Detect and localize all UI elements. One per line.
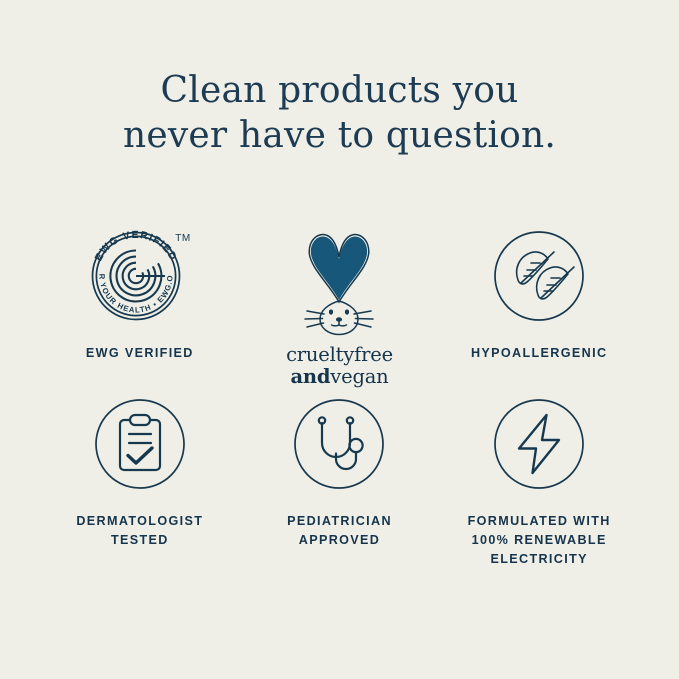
headline-line-2: never have to question. [0, 113, 679, 158]
badge-caption-renewable-electricity: FORMULATED WITH 100% RENEWABLE ELECTRICI… [468, 512, 611, 569]
bunny-nose [336, 317, 342, 321]
circle-outline [295, 400, 383, 488]
caption-line: APPROVED [287, 531, 392, 550]
caption-line: TESTED [76, 531, 203, 550]
bunny-heart-ears-icon [280, 222, 398, 340]
ewg-seal-top-text: EWG VERIFIED [93, 230, 178, 263]
caption-line: FORMULATED WITH [468, 512, 611, 531]
badge-caption-dermatologist-tested: DERMATOLOGIST TESTED [76, 512, 203, 550]
caption-line: HYPOALLERGENIC [471, 344, 607, 363]
wordmark-and: and [290, 365, 330, 388]
renewable-electricity-art [491, 390, 587, 498]
caption-line: 100% RENEWABLE [468, 531, 611, 550]
earpiece-right [347, 417, 353, 423]
caption-line: ELECTRICITY [468, 550, 611, 569]
wordmark-vegan: vegan [330, 365, 388, 388]
clipboard-clip [130, 415, 150, 425]
earpiece-left [319, 417, 325, 423]
badge-pediatrician-approved: PEDIATRICIAN APPROVED [240, 390, 440, 580]
trademark-symbol: TM [175, 233, 190, 244]
bunny-mouth-left [332, 325, 340, 326]
whisker-left-2 [305, 319, 323, 320]
checkmark [128, 448, 152, 463]
feather-lower [537, 267, 574, 299]
badge-caption-pediatrician-approved: PEDIATRICIAN APPROVED [287, 512, 392, 550]
dermatologist-tested-art [92, 390, 188, 498]
clipboard-body [120, 420, 160, 470]
cruelty-free-art [280, 222, 398, 340]
headline-line-1: Clean products you [0, 68, 679, 113]
badge-hypoallergenic: HYPOALLERGENIC [439, 222, 639, 372]
ewg-monogram-icon [110, 250, 165, 301]
ewg-verified-art: EWG VERIFIED FOR YOUR HEALTH • EWG.ORG T… [84, 222, 196, 330]
lightning-bolt-icon [491, 396, 587, 492]
caption-line: PEDIATRICIAN [287, 512, 392, 531]
circle-outline [495, 400, 583, 488]
badge-renewable-electricity: FORMULATED WITH 100% RENEWABLE ELECTRICI… [439, 390, 639, 580]
badge-grid: EWG VERIFIED FOR YOUR HEALTH • EWG.ORG T… [40, 222, 639, 580]
hypoallergenic-art [491, 222, 587, 330]
badge-ewg-verified: EWG VERIFIED FOR YOUR HEALTH • EWG.ORG T… [40, 222, 240, 372]
clipboard-checkmark-icon [92, 396, 188, 492]
badge-cruelty-free-and-vegan: crueltyfree andvegan [240, 222, 440, 372]
heart-ears-fill [311, 236, 367, 300]
caption-line: DERMATOLOGIST [76, 512, 203, 531]
ewg-verified-seal-icon: EWG VERIFIED FOR YOUR HEALTH • EWG.ORG T… [84, 224, 196, 328]
promo-graphic: Clean products you never have to questio… [0, 0, 679, 679]
badge-caption-hypoallergenic: HYPOALLERGENIC [471, 344, 607, 363]
bolt-outline [519, 415, 559, 473]
wordmark-line-2: andvegan [286, 366, 393, 388]
whisker-right-2 [356, 319, 374, 320]
chest-piece [350, 439, 363, 452]
badge-dermatologist-tested: DERMATOLOGIST TESTED [40, 390, 240, 580]
badge-caption-ewg-verified: EWG VERIFIED [86, 344, 194, 363]
caption-line: EWG VERIFIED [86, 344, 194, 363]
wordmark-line-1: crueltyfree [286, 344, 393, 366]
cruelty-free-wordmark: crueltyfree andvegan [286, 344, 393, 388]
stethoscope-icon [291, 396, 387, 492]
pediatrician-approved-art [291, 390, 387, 498]
bunny-eye-right [345, 309, 349, 314]
page-title: Clean products you never have to questio… [0, 68, 679, 158]
stethoscope-cord [336, 452, 356, 469]
bunny-mouth-right [339, 325, 347, 326]
two-feathers-icon [491, 228, 587, 324]
bunny-eye-left [329, 309, 333, 314]
stethoscope-tubing [322, 423, 350, 457]
